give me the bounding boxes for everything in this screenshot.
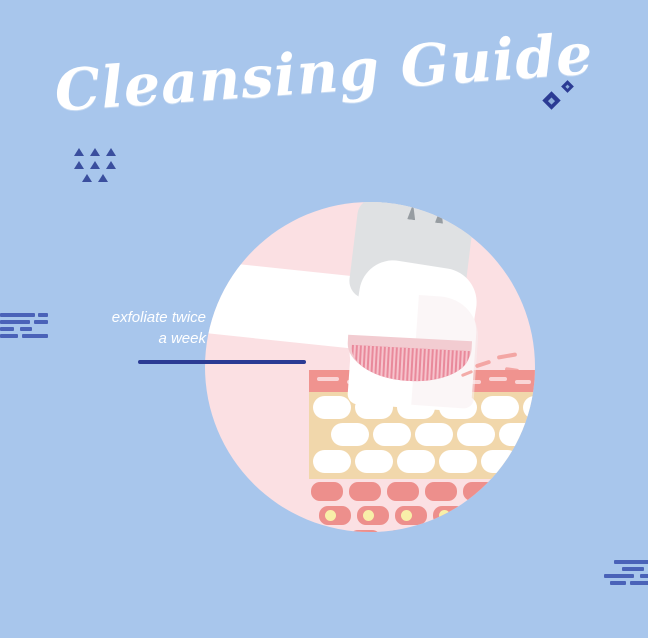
dermis-cell — [373, 423, 411, 446]
bristle — [400, 348, 404, 381]
dermis-cell — [523, 450, 535, 473]
dermis-cell — [415, 423, 453, 446]
dash-line — [0, 334, 18, 338]
bristle — [396, 347, 400, 380]
fat-cell — [463, 530, 495, 532]
diamond-icon — [561, 80, 574, 93]
diamond-icon — [542, 91, 560, 109]
dash-line — [622, 567, 644, 571]
bristle — [424, 349, 428, 382]
dash-line — [0, 313, 35, 317]
triangle-icon — [106, 148, 116, 156]
dash-line — [610, 581, 626, 585]
triangle-icon — [90, 148, 100, 156]
dash-line — [0, 320, 30, 324]
dash-line — [604, 574, 634, 578]
bristle — [376, 346, 380, 379]
bristle — [380, 347, 384, 380]
bristle — [428, 349, 432, 382]
triangle-icon — [74, 161, 84, 169]
bristle — [412, 348, 416, 381]
dermis-cell — [313, 396, 351, 419]
dermis-cell — [499, 423, 535, 446]
dash-line — [640, 574, 648, 578]
caption-underline — [138, 360, 306, 364]
dash-line — [20, 327, 32, 331]
brush-bristles — [350, 345, 470, 384]
fat-cell — [349, 482, 381, 501]
triangle-icon — [98, 174, 108, 182]
dermis-cell — [481, 450, 519, 473]
fat-cell — [349, 530, 381, 532]
dermis-cell — [313, 450, 351, 473]
fat-cell — [311, 482, 343, 501]
fat-cell — [463, 482, 495, 501]
fat-cell — [501, 482, 533, 501]
dermis-cell — [457, 423, 495, 446]
bristle — [420, 349, 424, 382]
dermis-cell — [439, 450, 477, 473]
dermis-cell — [481, 396, 519, 419]
illustration-circle — [205, 202, 535, 532]
caption-line-1: exfoliate twice — [36, 307, 206, 328]
bristle — [436, 349, 440, 382]
fat-cell — [425, 530, 457, 532]
bristle — [384, 347, 388, 380]
bristle — [416, 348, 420, 381]
dermis-cell — [331, 423, 369, 446]
triangle-icon — [106, 161, 116, 169]
skin-flake — [497, 352, 517, 359]
skin-flake — [475, 360, 491, 369]
bristle — [388, 347, 392, 380]
fat-cell-nucleus — [401, 510, 412, 521]
fat-cell — [501, 530, 533, 532]
dash-lines-icon — [604, 560, 648, 586]
fat-cell — [387, 530, 419, 532]
triangle-icon — [74, 148, 84, 156]
poster-canvas: Cleansing Guide exfoliate twice — [0, 0, 648, 638]
fat-cell-nucleus — [439, 510, 450, 521]
triangle-icon — [82, 174, 92, 182]
bristle — [372, 346, 376, 379]
caption-text: exfoliate twice a week — [36, 307, 206, 349]
skin-layer-hypodermis — [309, 482, 535, 532]
triangle-icon — [90, 161, 100, 169]
dash-line — [630, 581, 648, 585]
dash-line — [614, 560, 648, 564]
knuckle — [365, 202, 389, 209]
fat-cell-nucleus — [477, 510, 488, 521]
bristle — [404, 348, 408, 381]
dermis-cell — [523, 396, 535, 419]
epidermis-dash — [317, 377, 339, 381]
caption-line-2: a week — [36, 328, 206, 349]
fat-cell — [425, 482, 457, 501]
fat-cell — [311, 530, 343, 532]
bristle — [392, 347, 396, 380]
dash-line — [0, 327, 14, 331]
bristle — [432, 349, 436, 382]
bristle — [408, 348, 412, 381]
fat-cell-nucleus — [325, 510, 336, 521]
dermis-cell — [355, 450, 393, 473]
fat-cell-nucleus — [515, 510, 526, 521]
triangle-grid-icon — [76, 148, 120, 184]
knuckle — [448, 202, 472, 219]
epidermis-dash — [489, 377, 507, 381]
epidermis-dash — [515, 380, 531, 384]
fat-cell — [387, 482, 419, 501]
dermis-cell — [397, 450, 435, 473]
fat-cell-nucleus — [363, 510, 374, 521]
